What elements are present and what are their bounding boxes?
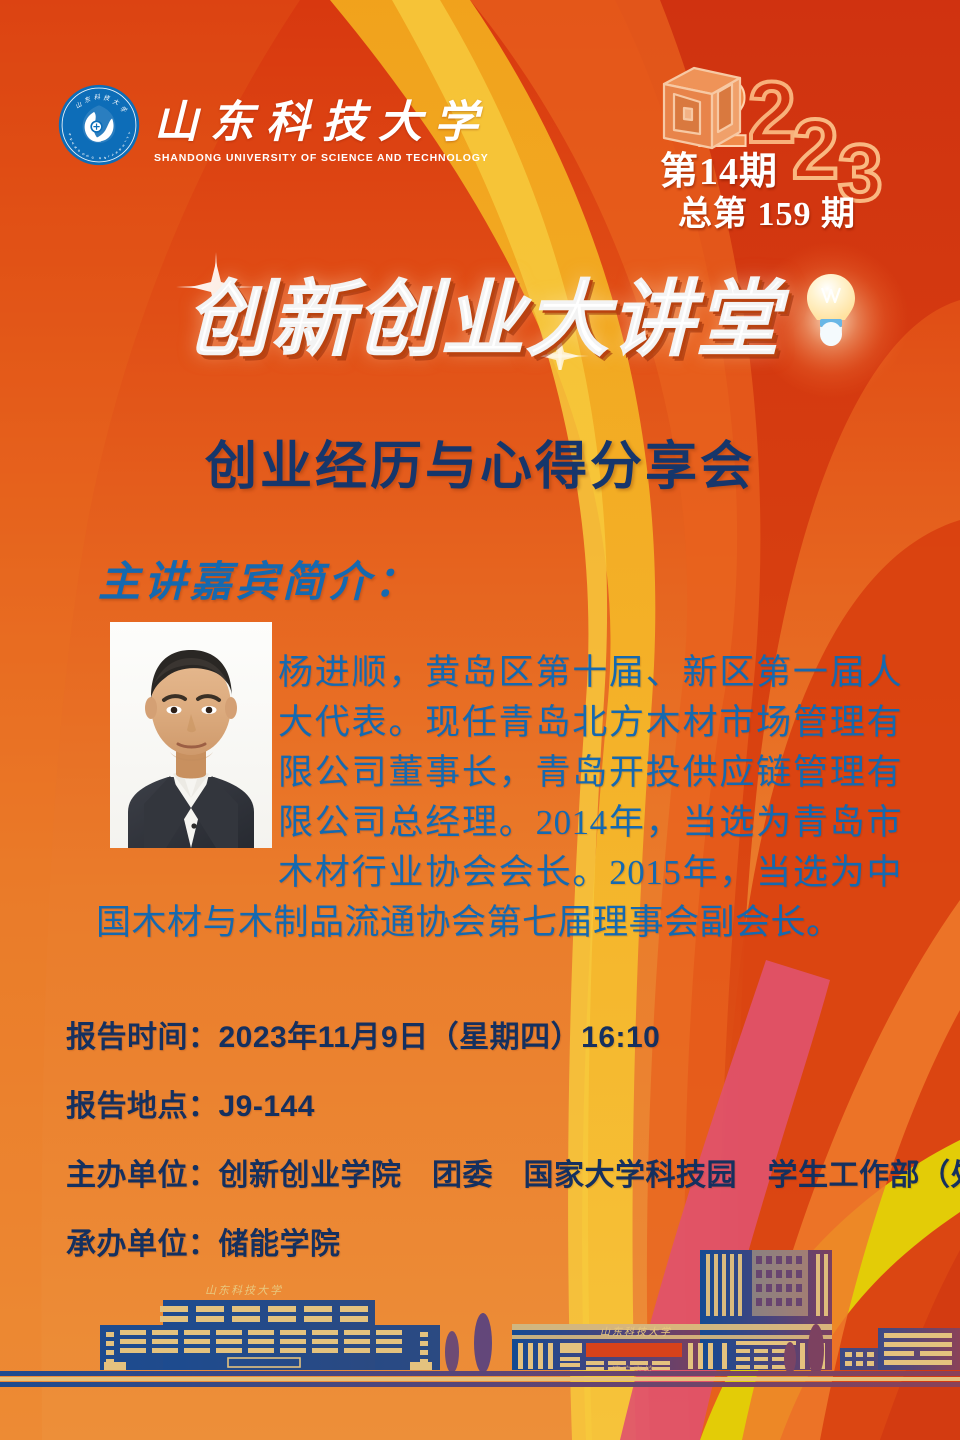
university-emblem-icon: 山 东 科 技 大 学 S H A N D O N G U N I V E <box>58 84 140 166</box>
portrait-text-wrap-spacer <box>96 648 278 852</box>
university-name-en: SHANDONG UNIVERSITY OF SCIENCE AND TECHN… <box>154 152 490 164</box>
issue-badge: 2 2 2 3 第14期 总第 159 期 <box>638 58 908 233</box>
detail-row-time: 报告时间：2023年11月9日（星期四）16:10 <box>66 1012 946 1056</box>
calligraphy-cube-icon <box>656 62 756 152</box>
building-label-center: 山东科技大学 <box>600 1326 672 1338</box>
university-name-cn: 山东科技大学 <box>154 86 490 150</box>
detail-row-place: 报告地点：J9-144 <box>66 1081 946 1125</box>
speaker-bio: 杨进顺，黄岛区第十届、新区第一届人大代表。现任青岛北方木材市场管理有限公司董事长… <box>96 648 902 948</box>
campus-skyline-illustration: 山东科技大学 <box>0 1240 960 1440</box>
banner-title-block: 创新创业大讲堂 <box>0 248 960 370</box>
poster-canvas: 山 东 科 技 大 学 S H A N D O N G U N I V E <box>0 0 960 1440</box>
banner-title: 创新创业大讲堂 <box>186 252 781 372</box>
building-label-left: 山东科技大学 <box>205 1284 283 1297</box>
detail-row-host: 主办单位：创新创业学院 团委 国家大学科技园 学生工作部（处） <box>66 1150 946 1194</box>
event-subtitle: 创业经历与心得分享会 <box>0 424 960 499</box>
svg-text:2: 2 <box>792 102 839 196</box>
guest-intro-heading: 主讲嘉宾简介： <box>98 548 420 609</box>
svg-text:U: U <box>99 156 101 160</box>
issue-total-number: 总第 159 期 <box>678 186 856 235</box>
university-logo: 山 东 科 技 大 学 S H A N D O N G U N I V E <box>58 84 490 166</box>
